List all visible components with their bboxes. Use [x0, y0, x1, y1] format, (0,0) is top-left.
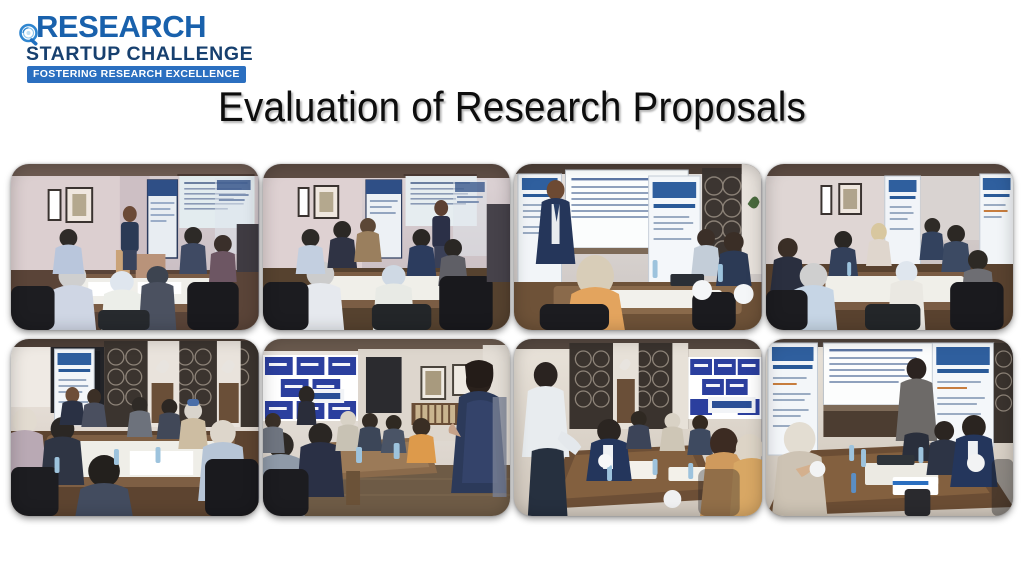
photo-gallery — [11, 164, 1013, 516]
photo-4[interactable] — [766, 164, 1014, 330]
photo-1[interactable] — [11, 164, 259, 330]
logo-subtitle: STARTUP CHALLENGE — [26, 44, 226, 64]
logo-tagline: FOSTERING RESEARCH EXCELLENCE — [33, 68, 240, 80]
photo-2[interactable] — [263, 164, 511, 330]
photo-7[interactable] — [514, 339, 762, 516]
photo-3[interactable] — [514, 164, 762, 330]
logo-wordmark-text: RESEARCH — [36, 10, 206, 43]
photo-row-top — [11, 164, 1013, 330]
magnifier-icon — [16, 21, 46, 51]
photo-row-bottom — [11, 339, 1013, 516]
logo-wordmark: RESEARCH — [22, 8, 226, 44]
logo: RESEARCH STARTUP CHALLENGE FOSTERING RES… — [14, 8, 226, 76]
photo-6[interactable] — [263, 339, 511, 516]
page-title: Evaluation of Research Proposals — [41, 83, 983, 131]
photo-5[interactable] — [11, 339, 259, 516]
photo-8[interactable] — [766, 339, 1014, 516]
logo-tagline-bar: FOSTERING RESEARCH EXCELLENCE — [27, 66, 246, 83]
